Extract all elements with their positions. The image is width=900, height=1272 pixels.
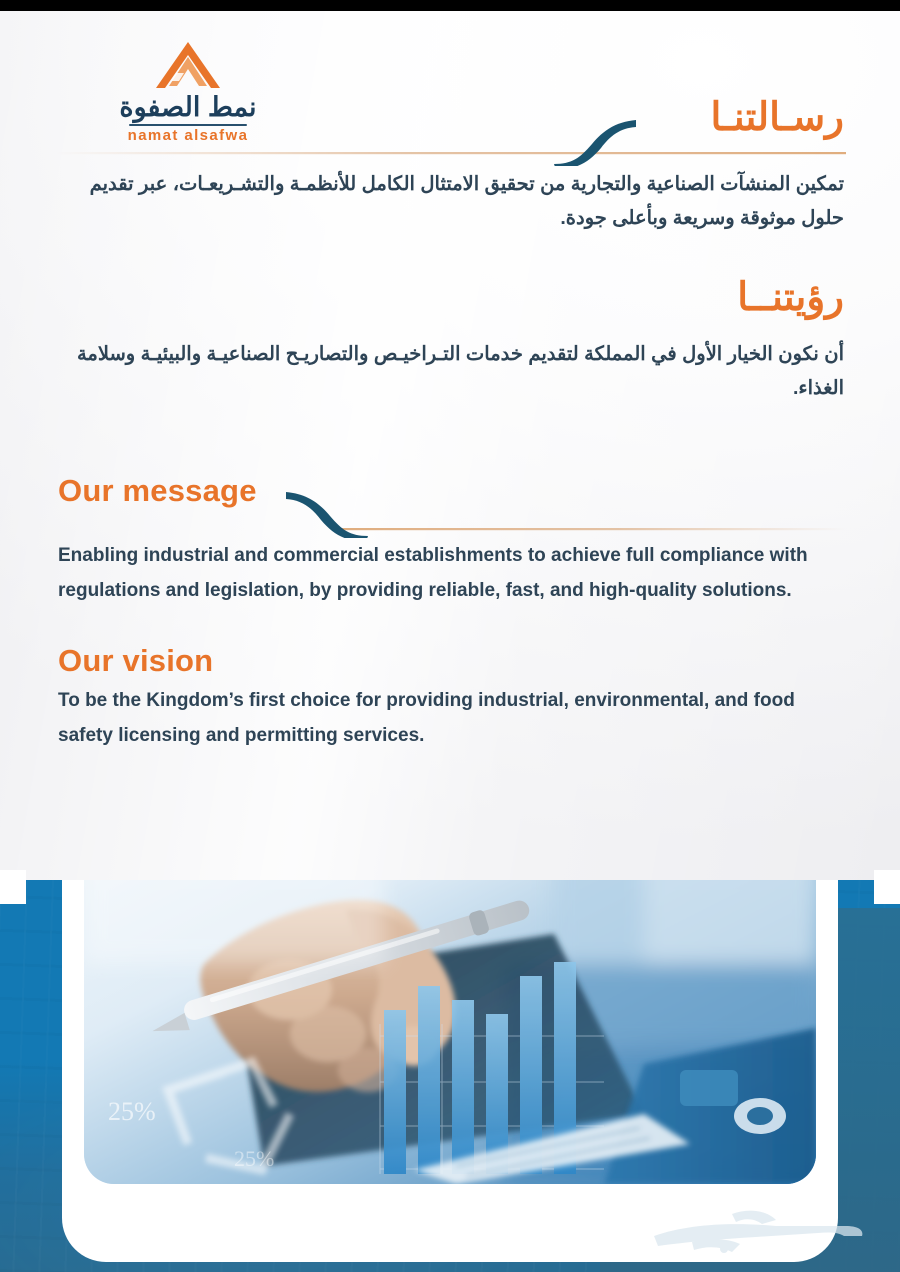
logo-underline bbox=[129, 124, 247, 126]
logo-latin-name: namat alsafwa bbox=[78, 128, 298, 143]
mission-ar-heading: رسـالتنـا bbox=[424, 98, 844, 137]
mountain-triangle-logo-icon bbox=[78, 38, 298, 90]
mission-ar-heading-wrap: رسـالتنـا bbox=[424, 98, 844, 137]
hero-photo: 25% 25% bbox=[84, 880, 816, 1184]
mission-en-heading-wrap: Our message bbox=[58, 475, 478, 506]
mission-en-heading: Our message bbox=[58, 475, 478, 506]
vision-ar-body: أن نكون الخيار الأول في المملكة لتقديم خ… bbox=[52, 338, 844, 405]
hand-stylus-tablet-chart-image: 25% 25% bbox=[84, 880, 816, 1184]
svg-text:25%: 25% bbox=[234, 1146, 274, 1171]
haraj-watermark-icon bbox=[636, 1202, 876, 1264]
logo-arabic-name: نمط الصفوة bbox=[78, 94, 298, 121]
vision-en-heading: Our vision bbox=[58, 645, 478, 676]
vision-en-heading-wrap: Our vision bbox=[58, 645, 478, 676]
poster-page: نمط الصفوة namat alsafwa رسـالتنـا تمكين… bbox=[0, 0, 900, 1272]
mission-ar-body: تمكين المنشآت الصناعية والتجارية من تحقي… bbox=[52, 168, 844, 235]
haraj-watermark bbox=[636, 1202, 876, 1264]
top-black-bar bbox=[0, 0, 900, 11]
vision-en-body: To be the Kingdom’s first choice for pro… bbox=[58, 683, 848, 753]
vision-ar-heading: رؤيتنــا bbox=[424, 278, 844, 317]
brand-logo: نمط الصفوة namat alsafwa bbox=[78, 38, 298, 146]
mission-en-body: Enabling industrial and commercial estab… bbox=[58, 538, 848, 608]
vision-ar-heading-wrap: رؤيتنــا bbox=[424, 278, 844, 317]
blue-panel-corner-mask-right bbox=[874, 870, 900, 904]
blue-panel-corner-mask-left bbox=[0, 870, 26, 904]
svg-text:25%: 25% bbox=[108, 1097, 156, 1126]
bottom-blue-panel: 25% 25% bbox=[0, 880, 900, 1272]
